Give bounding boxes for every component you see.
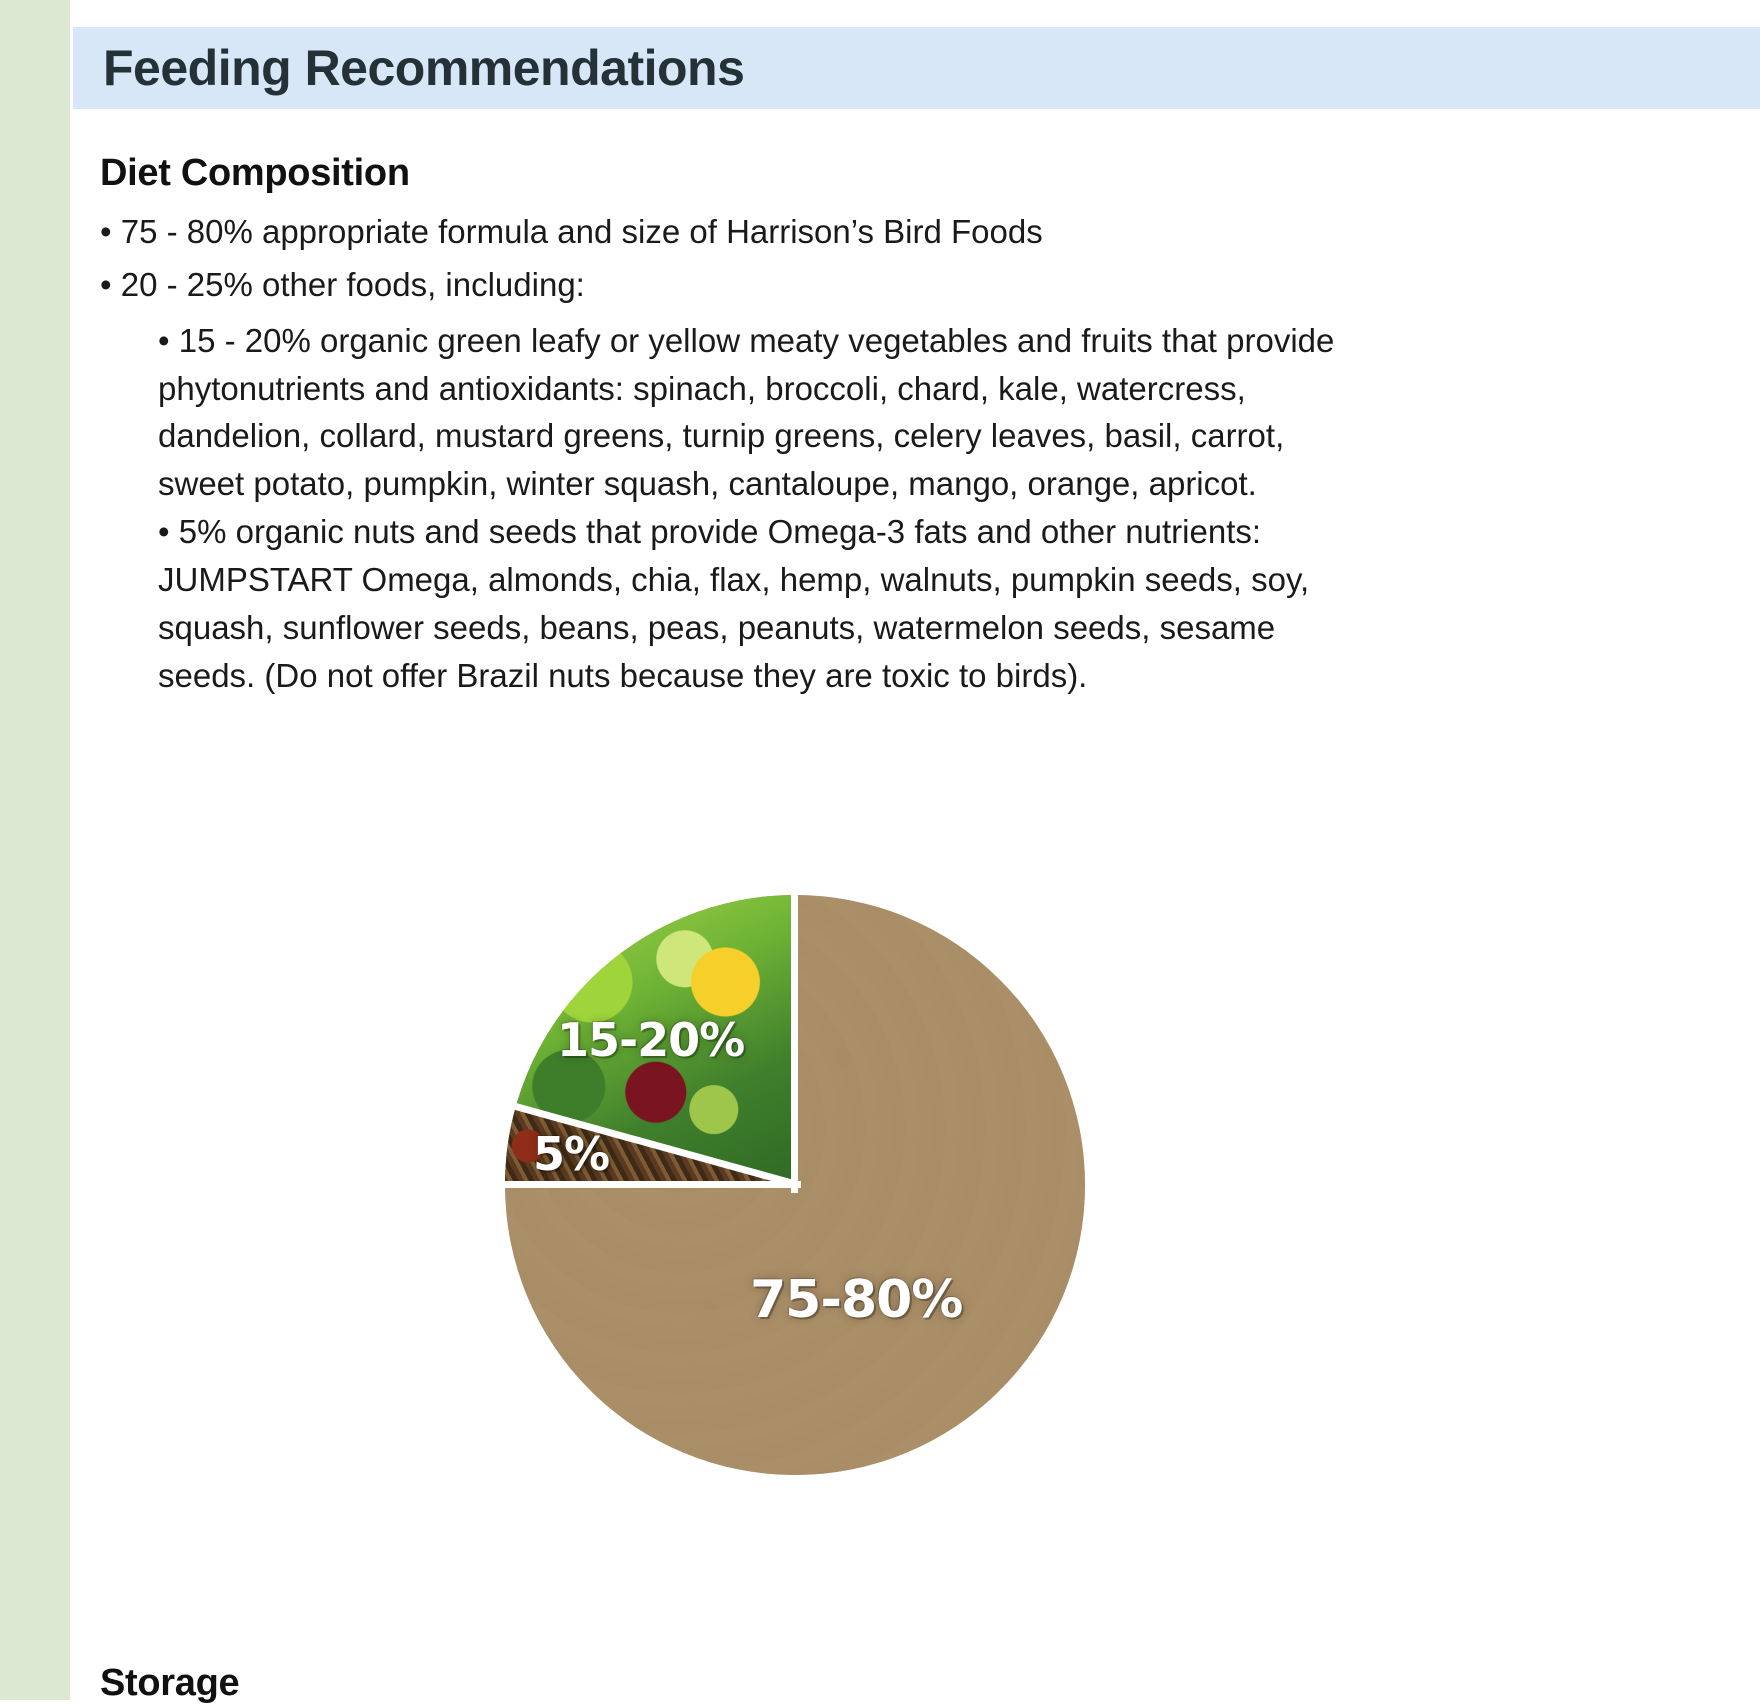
pie-label-seeds: 5% [533,1127,609,1181]
page-header-band: Feeding Recommendations [73,27,1760,109]
page-title: Feeding Recommendations [103,39,744,97]
list-item: • 20 - 25% other foods, including: [100,263,1360,308]
storage-heading: Storage [100,1662,239,1705]
diet-composition-heading: Diet Composition [100,152,1360,196]
list-item: • 5% organic nuts and seeds that provide… [100,508,1360,699]
diet-composition-pie-chart: 15-20% 5% 75-80% [505,895,1085,1475]
pie-label-pellets: 75-80% [750,1270,962,1330]
list-item: • 75 - 80% appropriate formula and size … [100,210,1360,255]
left-color-strip [0,0,70,1700]
list-item: • 15 - 20% organic green leafy or yellow… [100,317,1360,508]
main-content: Diet Composition • 75 - 80% appropriate … [100,152,1360,700]
slice-divider-horizontal [505,1181,801,1188]
slice-divider-vertical [791,895,798,1193]
pie-disc [505,895,1085,1475]
pie-label-vegetables: 15-20% [557,1013,744,1067]
